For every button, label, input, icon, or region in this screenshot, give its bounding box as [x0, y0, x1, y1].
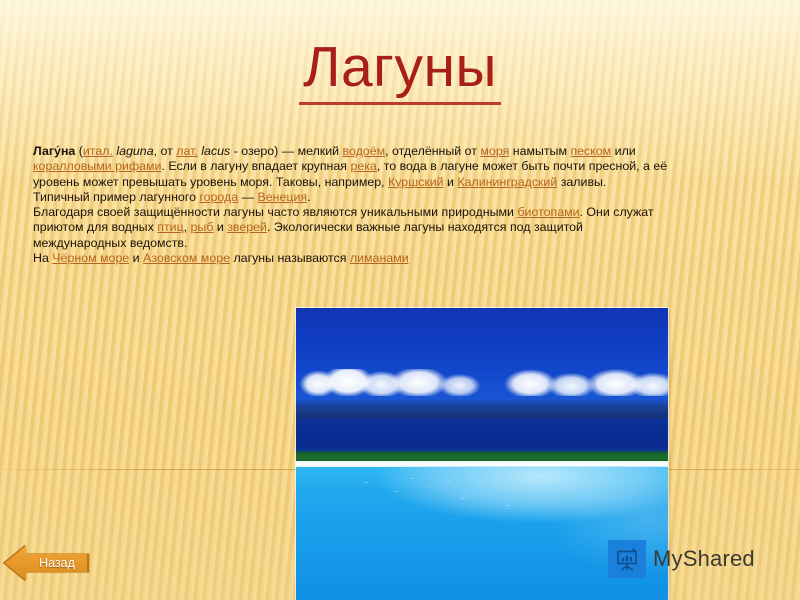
paragraph-venice: Типичный пример лагунного города — Венец…: [33, 190, 673, 205]
link-goroda[interactable]: города: [199, 190, 238, 204]
text-run: , отделённый от: [385, 144, 480, 158]
photo-clouds: [296, 369, 668, 395]
link-latin[interactable]: лат.: [176, 144, 198, 158]
text-run: Благодаря своей защищённости лагуны част…: [33, 205, 517, 219]
link-biotopami[interactable]: биотопами: [517, 205, 579, 219]
link-peskom[interactable]: песком: [570, 144, 611, 158]
text-run: или: [611, 144, 636, 158]
text-run: и: [213, 220, 227, 234]
paragraph-limany: На Чёрном море и Азовском море лагуны на…: [33, 251, 673, 266]
text-run: и: [129, 251, 143, 265]
text-run: и: [444, 175, 458, 189]
link-chernoe-more[interactable]: Чёрном море: [52, 251, 129, 265]
presentation-slide: Лагуны Лагу́на (итал. laguna, от лат. la…: [0, 0, 800, 600]
text-run-italic: laguna: [113, 144, 154, 158]
link-venetsiya[interactable]: Венеция: [257, 190, 307, 204]
text-run-italic: lacus: [198, 144, 230, 158]
link-italian[interactable]: итал.: [83, 144, 113, 158]
text-run: ,: [184, 220, 191, 234]
link-morya[interactable]: моря: [480, 144, 509, 158]
text-run: лагуны называются: [230, 251, 350, 265]
presentation-chart-icon: [608, 540, 646, 578]
back-button-label: Назад: [31, 556, 83, 570]
text-run: намытым: [509, 144, 570, 158]
text-run: (: [75, 144, 83, 158]
link-azovskoe-more[interactable]: Азовском море: [143, 251, 230, 265]
link-kaliningradskiy[interactable]: Калининградский: [457, 175, 557, 189]
link-ptits[interactable]: птиц: [157, 220, 183, 234]
page-title: Лагуны: [0, 38, 800, 105]
text-run: - озеро) — мелкий: [230, 144, 342, 158]
myshared-watermark-text: MyShared: [653, 546, 755, 572]
text-run: , от: [154, 144, 177, 158]
link-kurshskiy[interactable]: Куршский: [388, 175, 444, 189]
photo-boats: [296, 472, 668, 536]
link-zverey[interactable]: зверей: [227, 220, 267, 234]
text-run: заливы.: [557, 175, 606, 189]
link-korallovye-rify[interactable]: коралловыми рифами: [33, 159, 161, 173]
link-vodoem[interactable]: водоём: [343, 144, 386, 158]
text-run: .: [307, 190, 310, 204]
text-run: На: [33, 251, 52, 265]
text-run: —: [238, 190, 257, 204]
paragraph-ecology: Благодаря своей защищённости лагуны част…: [33, 205, 673, 251]
link-limanami[interactable]: лиманами: [350, 251, 409, 265]
text-run: . Если в лагуну впадает крупная: [161, 159, 350, 173]
myshared-watermark: MyShared: [608, 538, 755, 580]
term-laguna: Лагу́на: [33, 144, 75, 158]
text-run: Типичный пример лагунного: [33, 190, 199, 204]
page-title-text: Лагуны: [299, 38, 501, 105]
slide-body-text: Лагу́на (итал. laguna, от лат. lacus - о…: [33, 144, 673, 266]
link-ryb[interactable]: рыб: [191, 220, 214, 234]
link-reka[interactable]: река: [350, 159, 376, 173]
paragraph-definition: Лагу́на (итал. laguna, от лат. lacus - о…: [33, 144, 673, 190]
back-button[interactable]: Назад: [5, 544, 87, 582]
